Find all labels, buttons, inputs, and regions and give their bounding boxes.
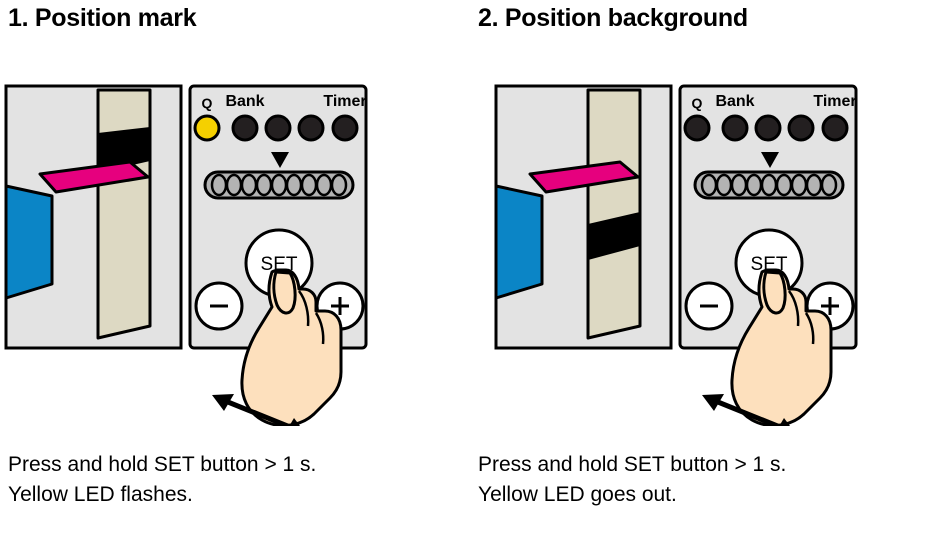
led-bank-2-2	[756, 116, 780, 140]
led-bank-1-2	[723, 116, 747, 140]
scene-box-1	[6, 86, 181, 348]
led-timer-1	[333, 116, 357, 140]
device-label-q-1: Q	[202, 95, 213, 111]
led-bank-2-1	[266, 116, 290, 140]
led-bank-1-1	[233, 116, 257, 140]
device-label-bank-2: Bank	[715, 93, 754, 110]
instruction-diagram: 1. Position mark	[0, 0, 940, 533]
led-q-2	[685, 116, 709, 140]
device-label-timer-1: Timer	[323, 93, 366, 110]
device-label-q-2: Q	[692, 95, 703, 111]
step-figure-1: Q Bank Timer	[0, 76, 470, 426]
step-caption-1: Press and hold SET button > 1 s. Yellow …	[8, 450, 460, 510]
led-timer-2	[823, 116, 847, 140]
caption-line-1-1: Press and hold SET button > 1 s.	[8, 450, 460, 480]
step-caption-2: Press and hold SET button > 1 s. Yellow …	[478, 450, 930, 510]
led-q-1	[195, 116, 219, 140]
step-panel-2: 2. Position background	[470, 0, 940, 533]
device-label-bank-1: Bank	[225, 93, 264, 110]
step-figure-2: Q Bank Timer	[470, 76, 940, 426]
step-title-1: 1. Position mark	[8, 4, 196, 33]
device-label-timer-2: Timer	[813, 93, 856, 110]
scene-box-2	[496, 86, 671, 348]
caption-line-1-2: Yellow LED flashes.	[8, 480, 460, 510]
caption-line-2-2: Yellow LED goes out.	[478, 480, 930, 510]
led-bank-3-2	[789, 116, 813, 140]
step-title-2: 2. Position background	[478, 4, 748, 33]
step-panel-1: 1. Position mark	[0, 0, 470, 533]
caption-line-2-1: Press and hold SET button > 1 s.	[478, 450, 930, 480]
led-bank-3-1	[299, 116, 323, 140]
